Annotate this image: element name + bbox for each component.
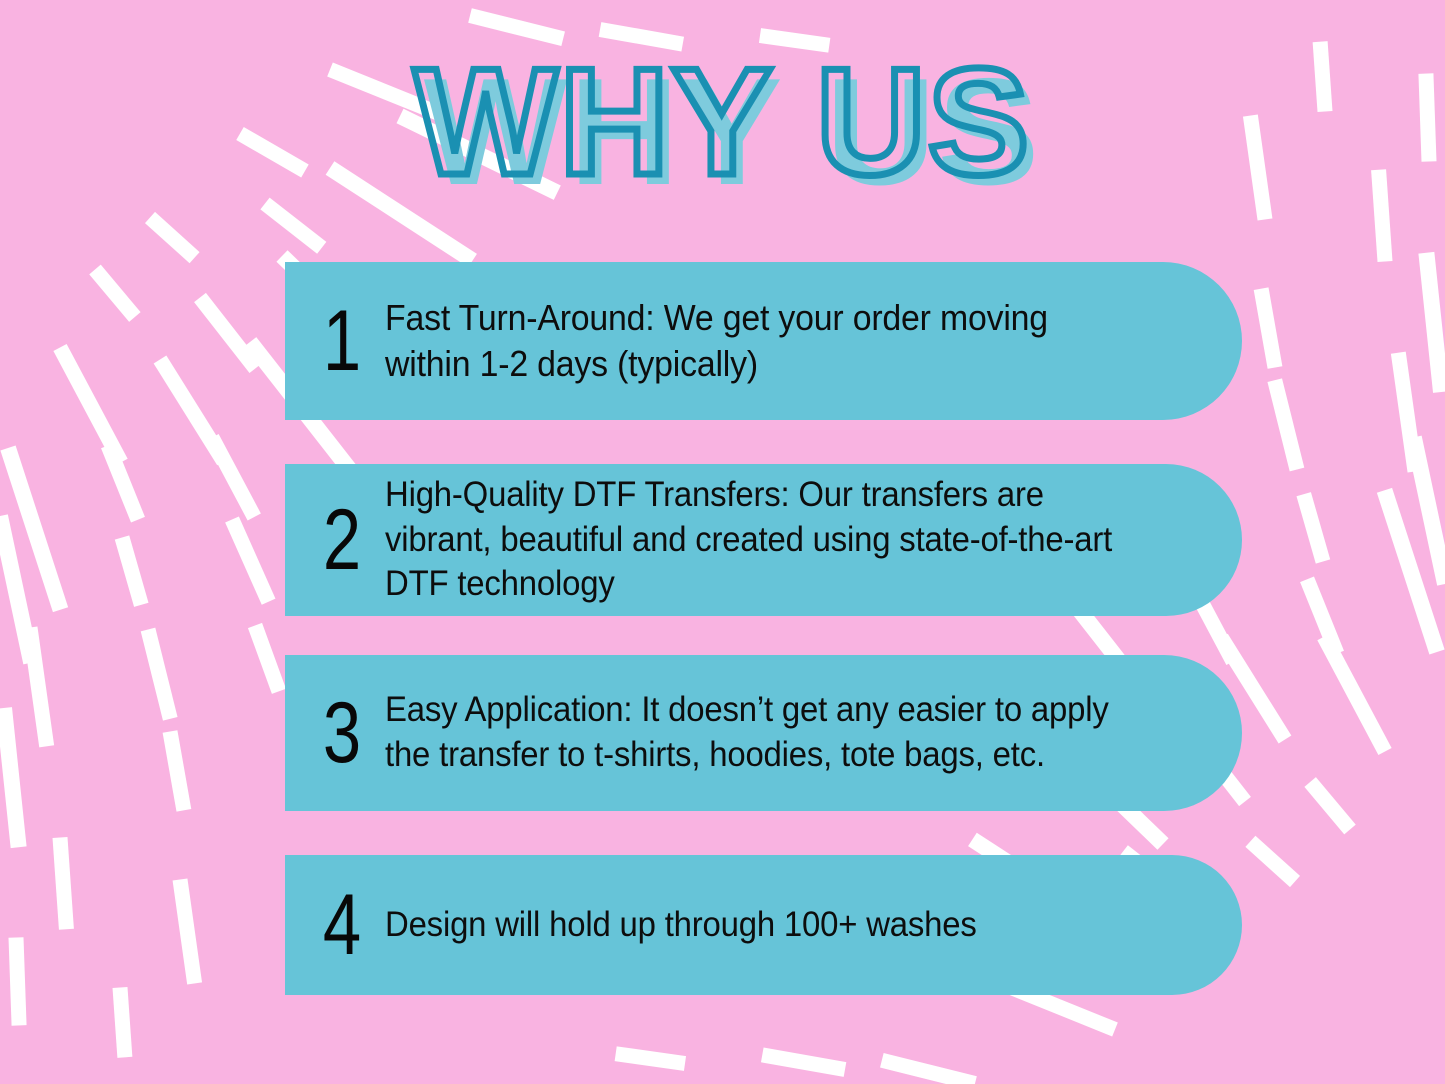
benefit-number-1: 1 — [308, 298, 377, 384]
dash-top-left-7 — [260, 198, 326, 254]
dash-top-left-8 — [145, 212, 200, 263]
dash-top-left-30 — [113, 987, 133, 1058]
dash-bottom-right-20 — [1296, 492, 1330, 563]
dash-bottom-right-1 — [880, 1053, 977, 1084]
dash-top-left-14 — [154, 356, 230, 466]
benefit-number-3: 3 — [308, 690, 377, 776]
benefit-number-2: 2 — [308, 497, 377, 583]
benefit-number-4: 4 — [308, 882, 377, 968]
benefit-card-2: 2 High-Quality DTF Transfers: Our transf… — [285, 464, 1242, 616]
dash-bottom-right-8 — [1245, 836, 1300, 887]
dash-bottom-right-13 — [1317, 633, 1391, 755]
dash-top-left-27 — [53, 837, 74, 930]
dash-bottom-right-16 — [1377, 488, 1445, 655]
dash-top-left-10 — [194, 293, 261, 373]
dash-top-left-29 — [9, 937, 27, 1025]
benefit-card-4: 4 Design will hold up through 100+ washe… — [285, 855, 1242, 995]
dash-top-left-22 — [23, 626, 55, 747]
dash-bottom-right-19 — [1406, 436, 1445, 586]
page-title: WHY US WHY US — [0, 46, 1445, 196]
dash-bottom-right-11 — [1304, 777, 1355, 834]
dash-bottom-right-24 — [1254, 287, 1283, 368]
benefit-text-4: Design will hold up through 100+ washes — [385, 903, 1191, 948]
title-outline-layer: WHY US — [414, 37, 1031, 207]
benefit-text-3: Easy Application: It doesn’t get any eas… — [385, 688, 1191, 778]
dash-top-left-17 — [101, 443, 145, 523]
dash-top-left-24 — [248, 623, 286, 694]
dash-bottom-right-22 — [1267, 378, 1304, 471]
dash-top-left-21 — [225, 516, 275, 604]
dash-top-left-28 — [173, 878, 202, 984]
benefit-card-3: 3 Easy Application: It doesn’t get any e… — [285, 655, 1242, 811]
title-stack: WHY US WHY US — [414, 46, 1031, 198]
dash-bottom-right-2 — [761, 1048, 846, 1077]
dash-top-left-26 — [163, 730, 192, 811]
dash-bottom-right-17 — [1300, 577, 1344, 657]
dash-top-left-23 — [141, 628, 178, 721]
dash-top-left-11 — [89, 265, 140, 322]
dash-top-left-13 — [53, 344, 127, 466]
poster-canvas: WHY US WHY US 1 Fast Turn-Around: We get… — [0, 0, 1445, 1084]
dash-top-left-18 — [205, 434, 260, 521]
dash-top-left-20 — [115, 535, 149, 606]
benefit-text-2: High-Quality DTF Transfers: Our transfer… — [385, 473, 1191, 607]
benefit-text-1: Fast Turn-Around: We get your order movi… — [385, 295, 1191, 387]
dash-top-left-16 — [0, 446, 68, 613]
dash-bottom-right-21 — [1391, 352, 1423, 473]
dash-bottom-right-3 — [615, 1046, 686, 1071]
dash-bottom-right-23 — [1418, 252, 1445, 393]
dash-top-left-19 — [0, 514, 39, 664]
benefit-card-1: 1 Fast Turn-Around: We get your order mo… — [285, 262, 1242, 420]
dash-top-left-25 — [0, 707, 27, 848]
